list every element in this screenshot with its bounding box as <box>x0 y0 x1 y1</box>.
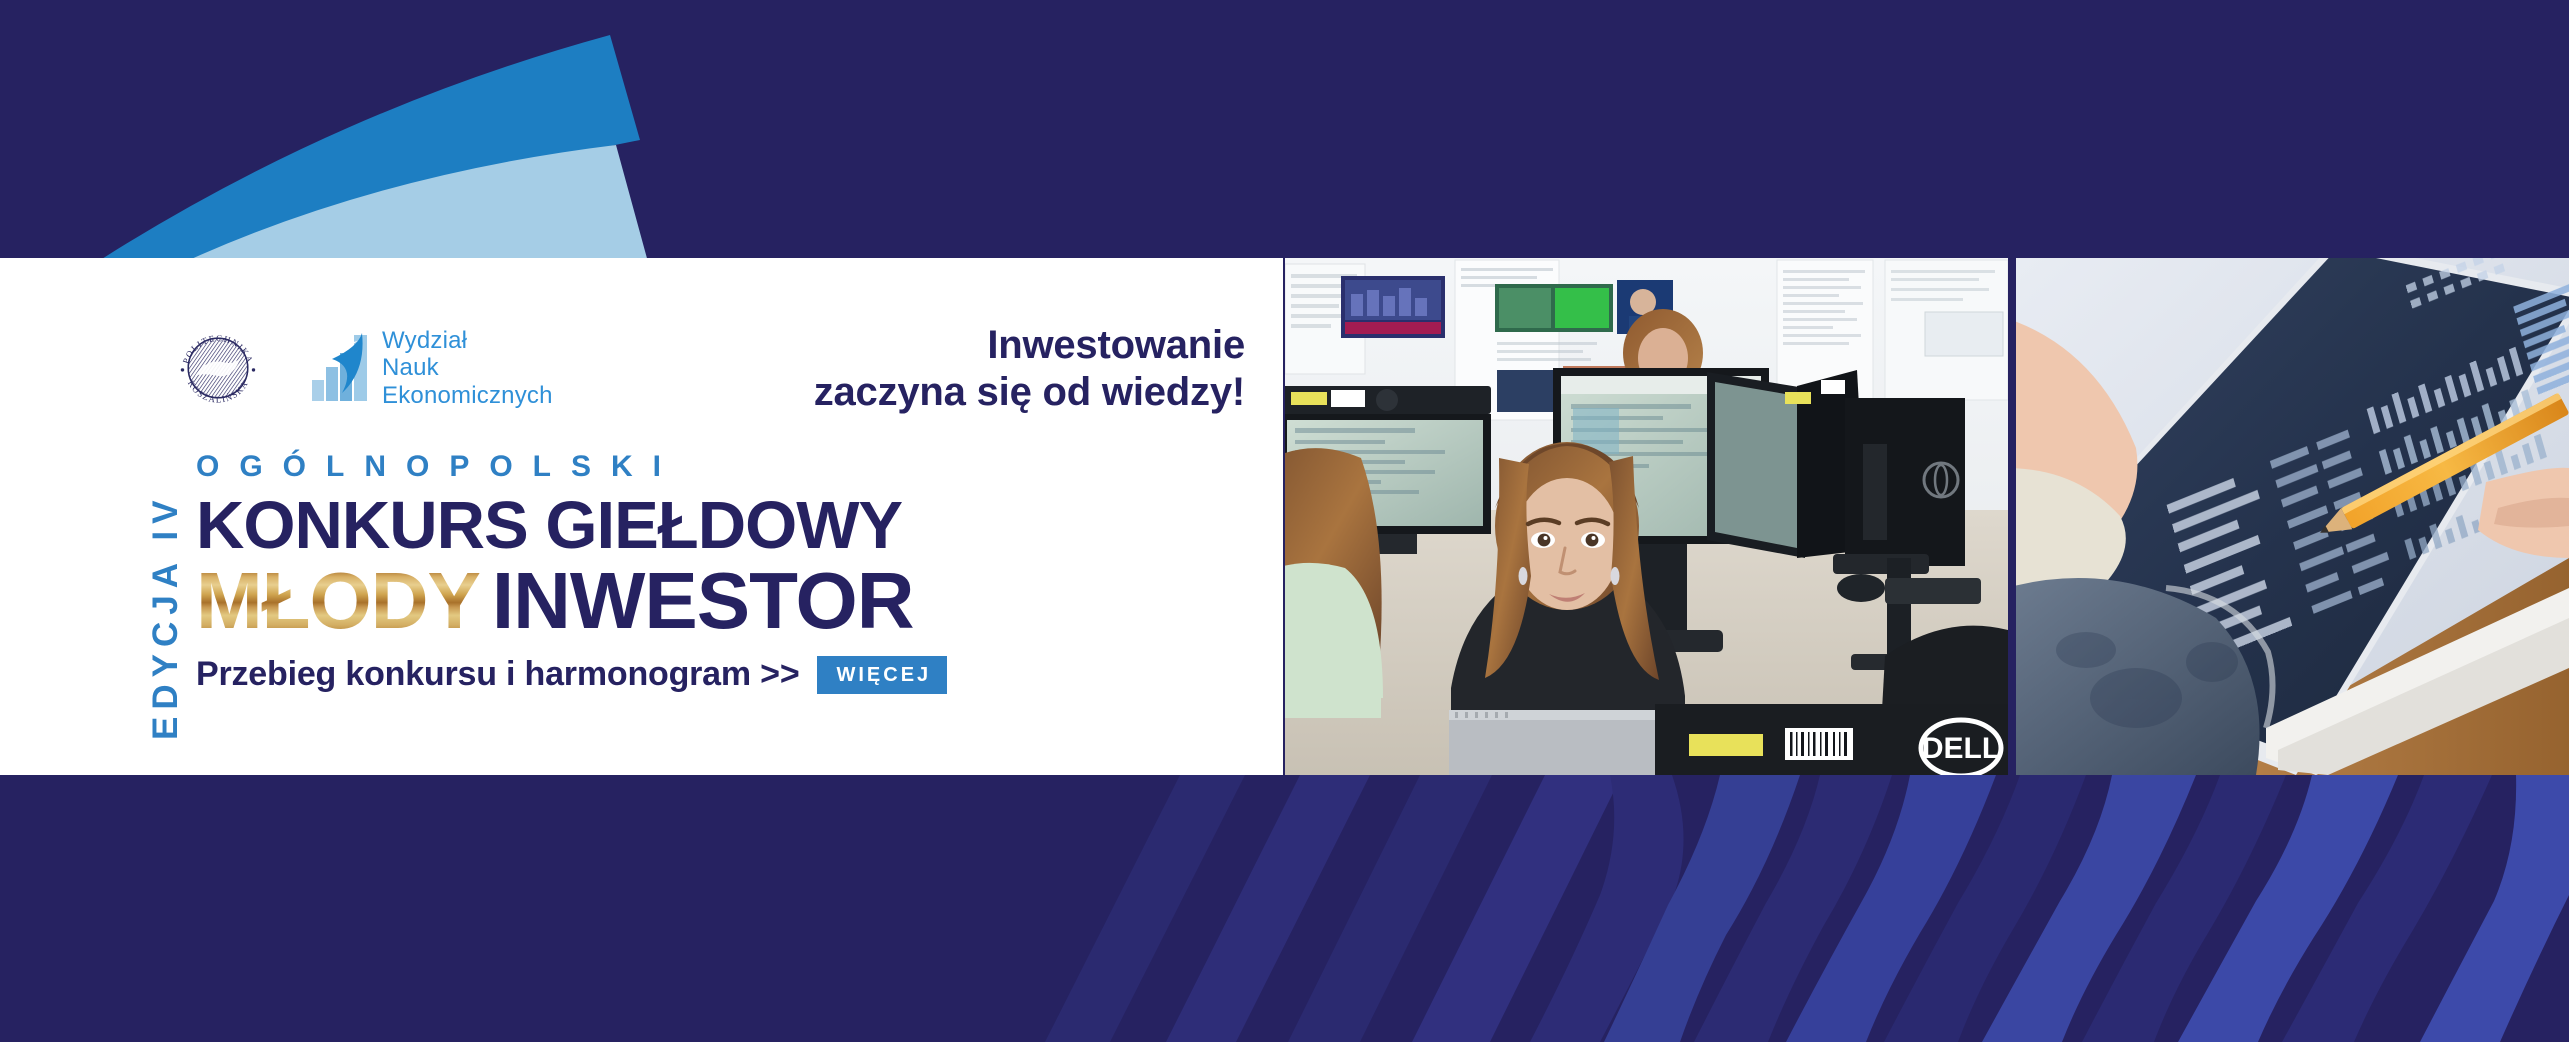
tagline-line-2: zaczyna się od wiedzy! <box>640 369 1245 416</box>
svg-text:DELL: DELL <box>1922 732 2000 765</box>
wiecej-button[interactable]: WIĘCEJ <box>817 656 947 694</box>
photo-computer-lab-student: DELL <box>1285 258 2008 775</box>
faculty-line-2: Nauk <box>382 354 553 381</box>
faculty-logo: Wydział Nauk Ekonomicznych <box>312 327 553 409</box>
headline-word-mlody: MŁODY <box>196 561 480 641</box>
swoosh-decoration <box>0 0 720 300</box>
tagline-line-1: Inwestowanie <box>640 322 1245 369</box>
faculty-line-3: Ekonomicznych <box>382 382 553 409</box>
edition-label: EDYCJA IV <box>112 440 158 740</box>
edition-label-text: EDYCJA IV <box>148 494 183 740</box>
diagonal-stripes-decoration <box>0 775 2569 1042</box>
logo-group: POLITECHNIKA KOSZALIŃSKA Wydział <box>170 320 553 416</box>
headline-block: OGÓLNOPOLSKI KONKURS GIEŁDOWY MŁODY INWE… <box>196 452 947 694</box>
promo-banner: POLITECHNIKA KOSZALIŃSKA Wydział <box>0 0 2569 1042</box>
cta-text: Przebieg konkursu i harmonogram >> <box>196 655 799 694</box>
faculty-line-1: Wydział <box>382 327 553 354</box>
tagline: Inwestowanie zaczyna się od wiedzy! <box>640 322 1245 416</box>
headline-title-line-2: MŁODY INWESTOR <box>196 561 947 641</box>
headline-title-line-1: KONKURS GIEŁDOWY <box>196 492 947 559</box>
headline-word-inwestor: INWESTOR <box>492 561 914 641</box>
politechnika-koszalinska-seal-icon: POLITECHNIKA KOSZALIŃSKA <box>170 320 266 416</box>
cta-row: Przebieg konkursu i harmonogram >> WIĘCE… <box>196 655 947 694</box>
bar-chart-wave-mark-icon <box>312 331 372 405</box>
headline-kicker: OGÓLNOPOLSKI <box>196 452 947 482</box>
photo-tablet-financial-data <box>2016 258 2569 775</box>
